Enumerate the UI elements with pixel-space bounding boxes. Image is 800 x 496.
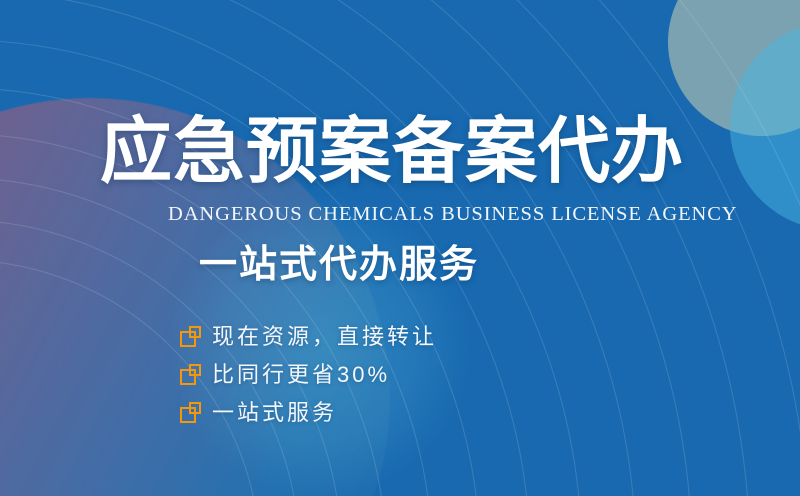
list-item-label: 一站式服务 (212, 402, 337, 424)
list-item: 现在资源，直接转让 (180, 318, 437, 355)
banner-content: 应急预案备案代办 DANGEROUS CHEMICALS BUSINESS LI… (0, 0, 800, 496)
page-title: 应急预案备案代办 (100, 116, 684, 188)
list-item: 比同行更省30% (180, 356, 437, 393)
service-tagline: 一站式代办服务 (199, 246, 479, 284)
list-item-label: 现在资源，直接转让 (212, 326, 437, 348)
feature-list: 现在资源，直接转让 比同行更省30% 一站式服务 (180, 318, 437, 432)
double-square-icon (180, 402, 201, 423)
double-square-icon (180, 364, 201, 385)
list-item-label: 比同行更省30% (212, 364, 390, 386)
english-subtitle: DANGEROUS CHEMICALS BUSINESS LICENSE AGE… (168, 204, 737, 225)
list-item: 一站式服务 (180, 394, 437, 431)
double-square-icon (180, 326, 201, 347)
promo-banner: 应急预案备案代办 DANGEROUS CHEMICALS BUSINESS LI… (0, 0, 800, 496)
